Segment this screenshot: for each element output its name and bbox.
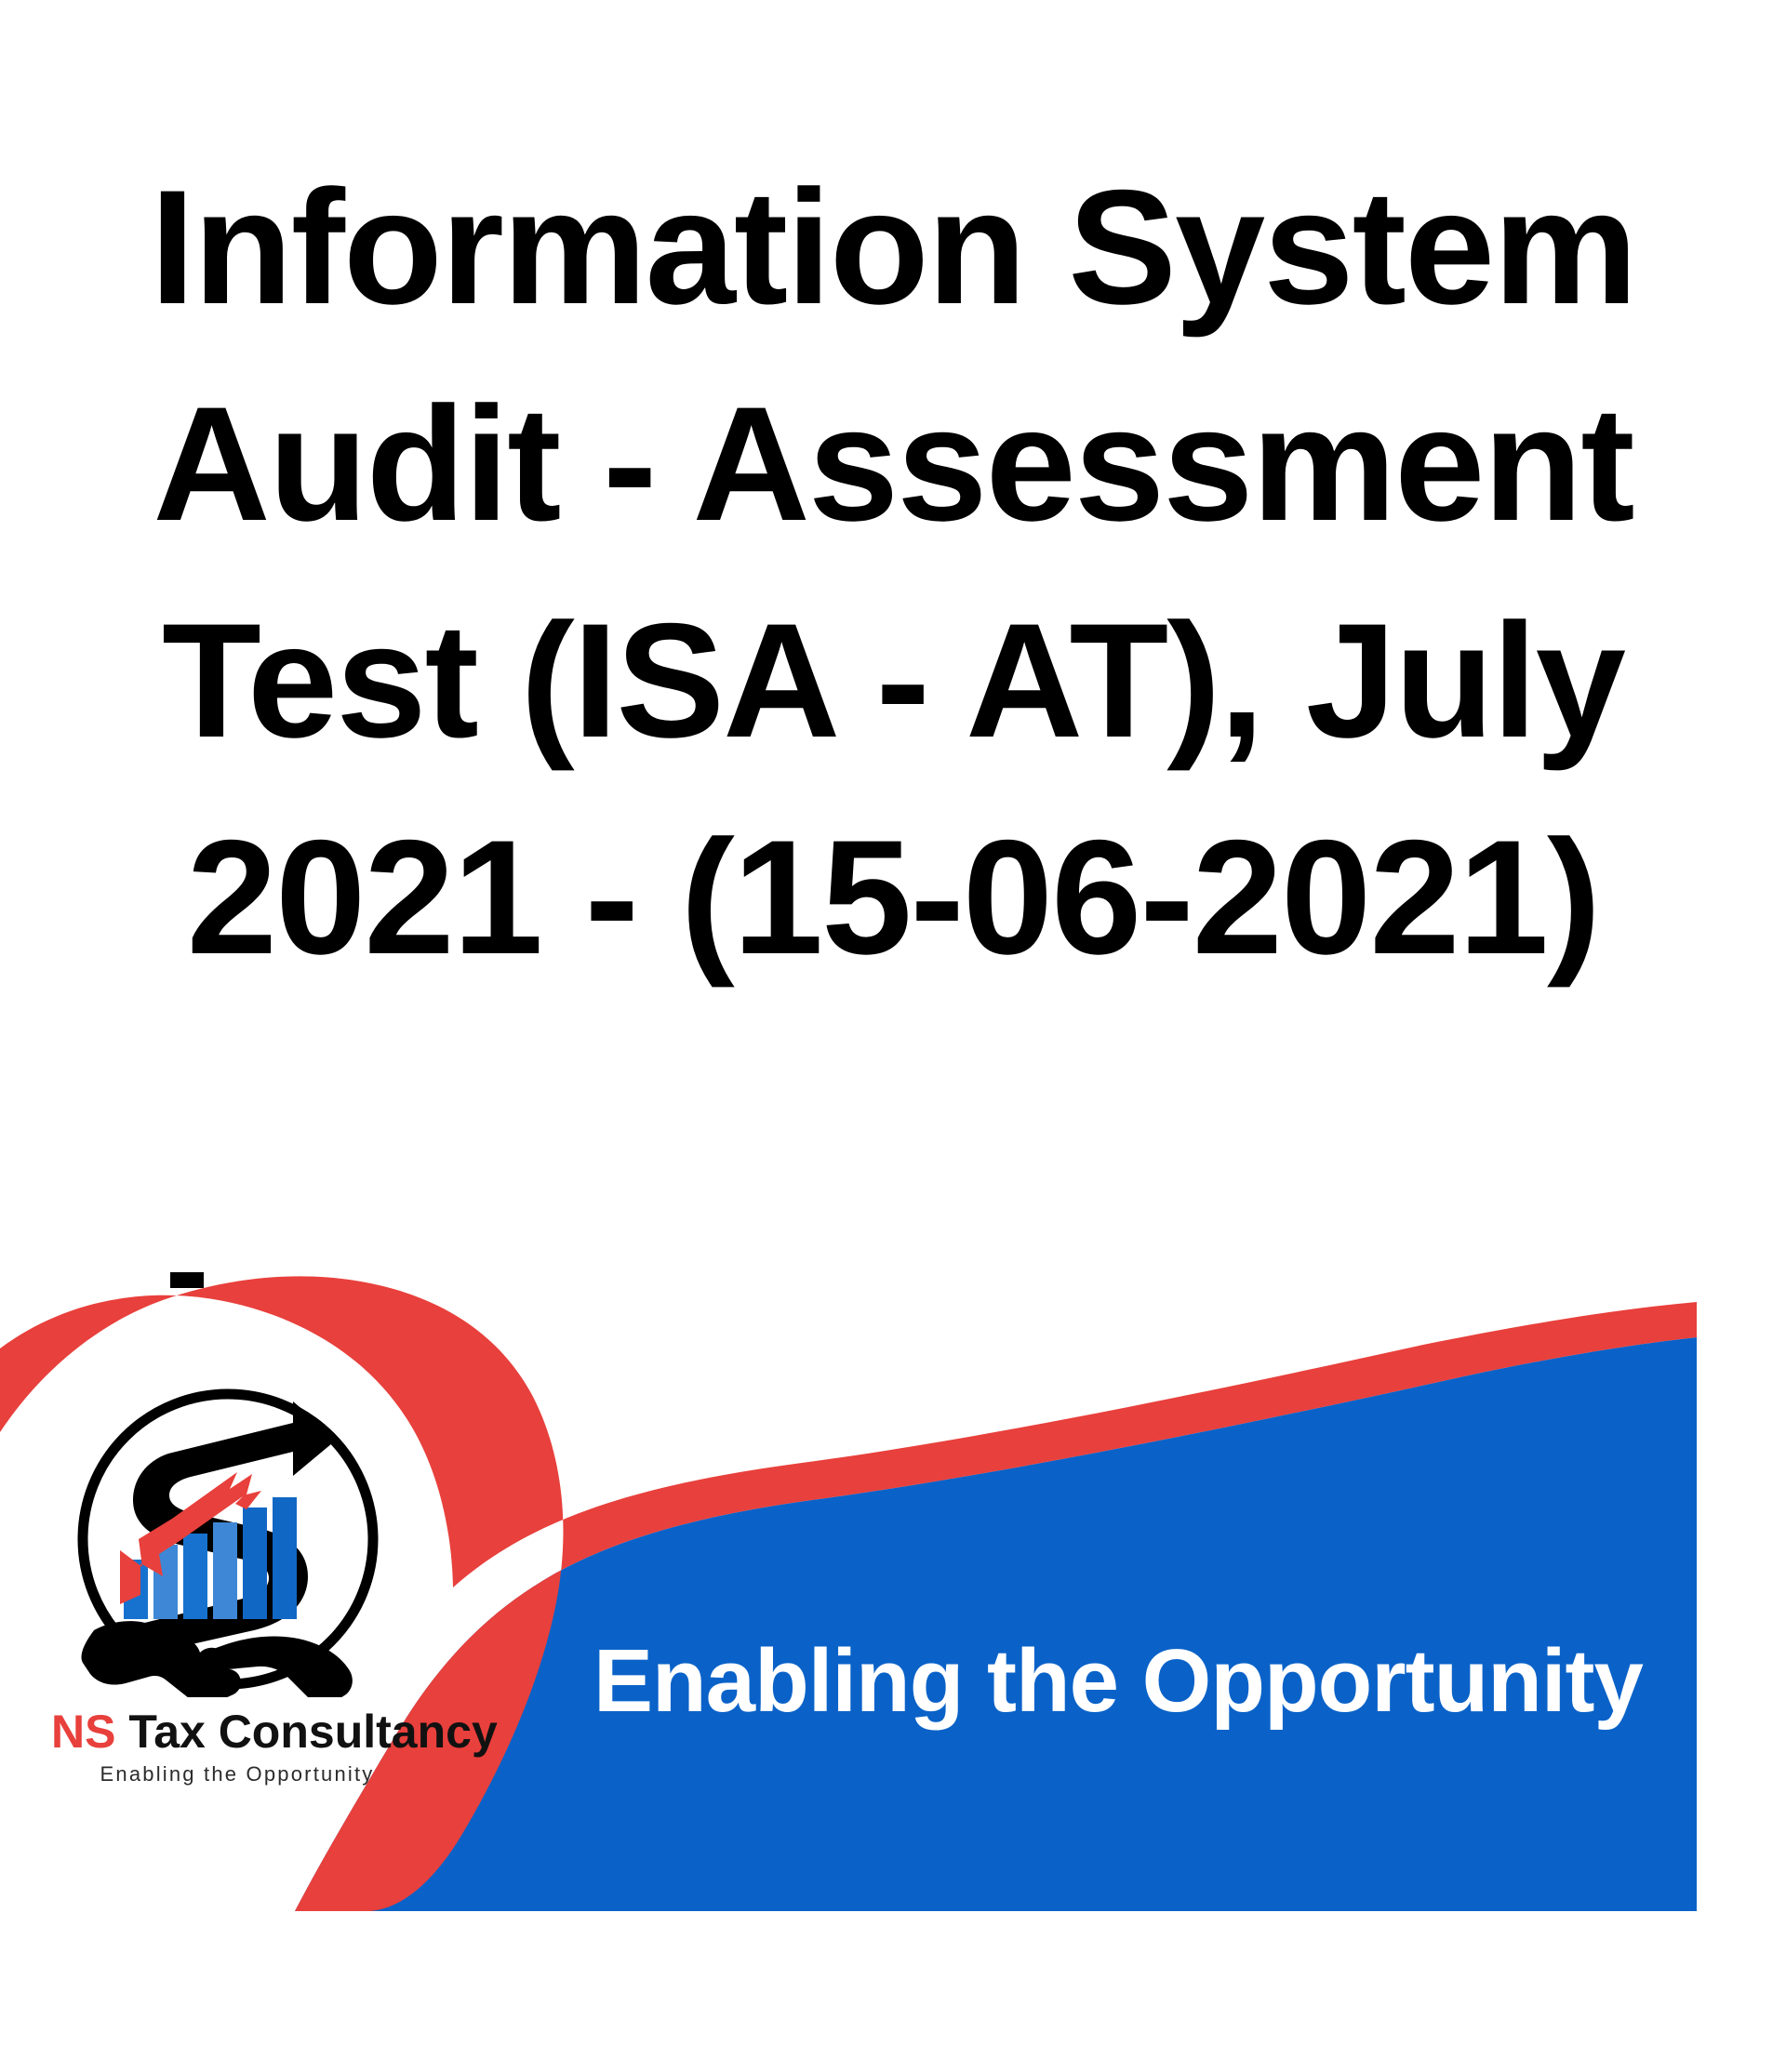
black-artifact-mark <box>170 1272 204 1288</box>
logo-tagline: Enabling the Opportunity <box>51 1762 423 1786</box>
logo-wordmark-accent: NS <box>51 1706 115 1758</box>
logo-bar-6 <box>273 1497 297 1619</box>
title-line-1: Information System <box>56 139 1730 356</box>
logo-wordmark-rest: Tax Consultancy <box>115 1706 497 1758</box>
logo-lockup: NS Tax Consultancy Enabling the Opportun… <box>51 1381 516 1846</box>
title-line-3: Test (ISA - AT), July <box>56 573 1730 790</box>
logo-bar-3 <box>183 1534 207 1619</box>
logo-bar-4 <box>213 1522 237 1619</box>
title-line-2: Audit - Assessment <box>56 356 1730 573</box>
title-line-4: 2021 - (15-06-2021) <box>56 790 1730 1006</box>
slide-canvas: Information System Audit - Assessment Te… <box>0 0 1786 2072</box>
ns-logo-icon <box>70 1381 386 1697</box>
page-title: Information System Audit - Assessment Te… <box>56 139 1730 1006</box>
logo-wordmark: NS Tax Consultancy <box>51 1705 423 1759</box>
logo-bar-5 <box>243 1508 267 1619</box>
